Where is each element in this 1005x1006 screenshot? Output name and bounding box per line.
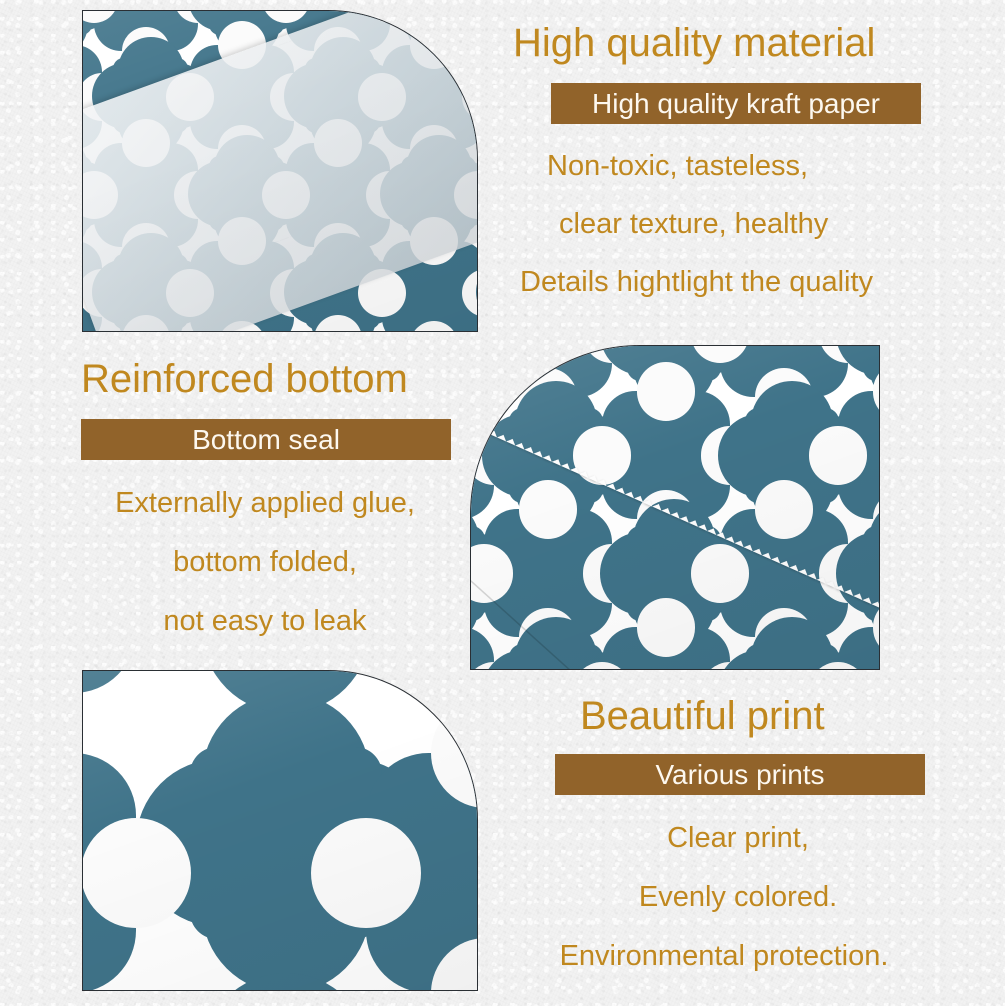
section-body-line: Non-toxic, tasteless, (547, 152, 983, 181)
photo-bottom-seal (470, 345, 880, 670)
infographic-page: High quality material High quality kraft… (0, 0, 1005, 1006)
section-beautiful-print: Beautiful print Various prints Clear pri… (548, 695, 1003, 971)
section-ribbon-label: Bottom seal (81, 419, 451, 460)
section-body-line: Evenly colored. (548, 883, 928, 912)
section-reinforced-bottom: Reinforced bottom Bottom seal Externally… (75, 358, 495, 636)
photo-print-detail (82, 670, 478, 991)
section-headline: High quality material (513, 22, 983, 65)
section-body-line: not easy to leak (75, 607, 455, 636)
section-ribbon-label: Various prints (555, 754, 925, 795)
section-headline: Reinforced bottom (81, 358, 495, 401)
section-body-line: Externally applied glue, (75, 489, 455, 518)
section-high-quality-material: High quality material High quality kraft… (513, 22, 983, 297)
section-body-line: Environmental protection. (514, 942, 934, 971)
section-body-line: clear texture, healthy (559, 210, 983, 239)
section-body-line: Clear print, (548, 824, 928, 853)
section-body-line: Details hightlight the quality (520, 268, 983, 297)
section-headline: Beautiful print (580, 695, 1003, 738)
section-body-line: bottom folded, (75, 548, 455, 577)
section-ribbon-label: High quality kraft paper (551, 83, 921, 124)
photo-kraft-paper-texture (82, 10, 478, 332)
quatrefoil-print-pattern (82, 670, 478, 991)
